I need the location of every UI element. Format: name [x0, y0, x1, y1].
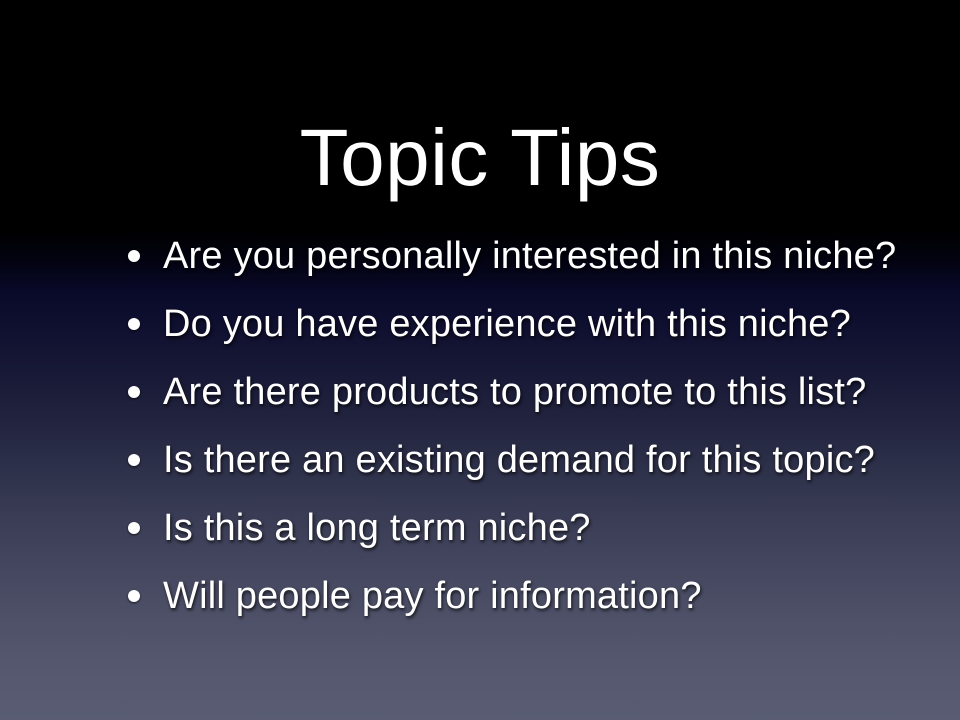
list-item-label: Do you have experience with this niche? — [163, 300, 851, 348]
list-item-label: Are there products to promote to this li… — [163, 368, 867, 416]
bullet-list: Are you personally interested in this ni… — [124, 232, 914, 640]
list-item: Will people pay for information? — [124, 572, 914, 640]
page-title: Topic Tips — [0, 112, 960, 204]
list-item: Is this a long term niche? — [124, 504, 914, 572]
bullet-dot-icon — [128, 318, 140, 330]
list-item-label: Will people pay for information? — [163, 572, 702, 620]
list-item: Are there products to promote to this li… — [124, 368, 914, 436]
list-item-label: Are you personally interested in this ni… — [163, 232, 896, 280]
bullet-dot-icon — [128, 522, 140, 534]
list-item-label: Is this a long term niche? — [163, 504, 591, 552]
list-item: Are you personally interested in this ni… — [124, 232, 914, 300]
bullet-dot-icon — [128, 250, 140, 262]
bullet-dot-icon — [128, 590, 140, 602]
bullet-dot-icon — [128, 386, 140, 398]
list-item: Is there an existing demand for this top… — [124, 436, 914, 504]
list-item: Do you have experience with this niche? — [124, 300, 914, 368]
bullet-dot-icon — [128, 454, 140, 466]
list-item-label: Is there an existing demand for this top… — [163, 436, 875, 484]
presentation-slide: Topic Tips Are you personally interested… — [0, 0, 960, 720]
